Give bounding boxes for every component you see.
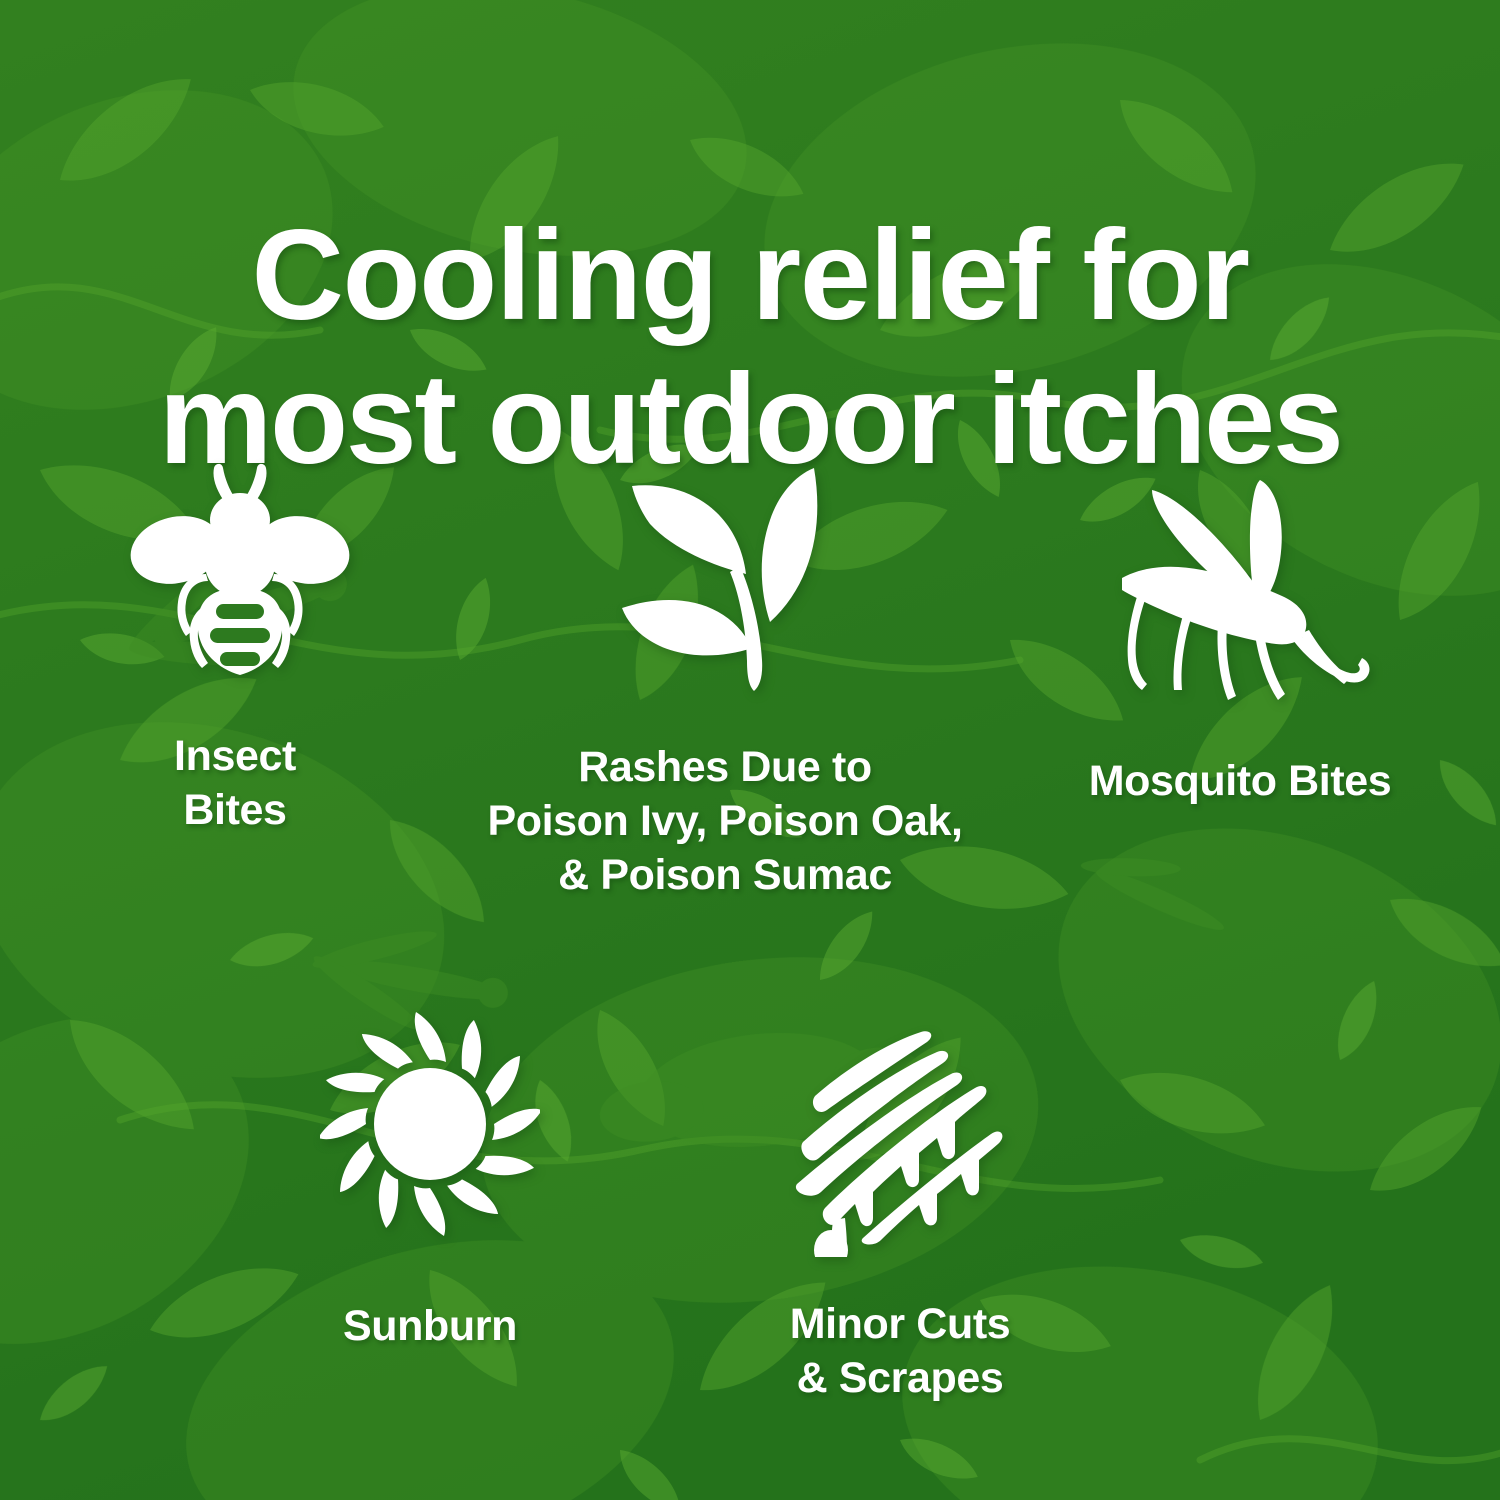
sun-icon [320,1012,540,1237]
bee-icon [130,462,350,677]
benefit-label-sunburn: Sunburn [343,1299,517,1353]
benefits-row-top: Insect Bites Rashes Due to Poison Ivy, P… [0,462,1500,903]
page-title: Cooling relief for most outdoor itches [0,204,1500,493]
benefit-item-insect-bites: Insect Bites [0,462,470,903]
benefit-item-poison-rashes: Rashes Due to Poison Ivy, Poison Oak, & … [470,462,980,903]
benefit-item-mosquito-bites: Mosquito Bites [980,462,1500,903]
benefit-item-sunburn: Sunburn [0,1012,560,1405]
product-benefits-poster: Cooling relief for most outdoor itches [0,0,1500,1500]
benefit-label-insect-bites: Insect Bites [174,729,296,837]
poison-ivy-leaf-icon [618,462,833,692]
headline-line-1: Cooling relief for [60,204,1440,349]
benefit-label-minor-cuts-scrapes: Minor Cuts & Scrapes [790,1297,1011,1405]
benefit-label-poison-rashes: Rashes Due to Poison Ivy, Poison Oak, & … [487,740,962,903]
scratch-marks-icon [785,1012,1015,1257]
mosquito-icon [1110,462,1380,712]
benefits-row-bottom: Sunburn [0,1012,1500,1405]
benefit-item-minor-cuts-scrapes: Minor Cuts & Scrapes [560,1012,1120,1405]
benefit-label-mosquito-bites: Mosquito Bites [1089,754,1392,808]
